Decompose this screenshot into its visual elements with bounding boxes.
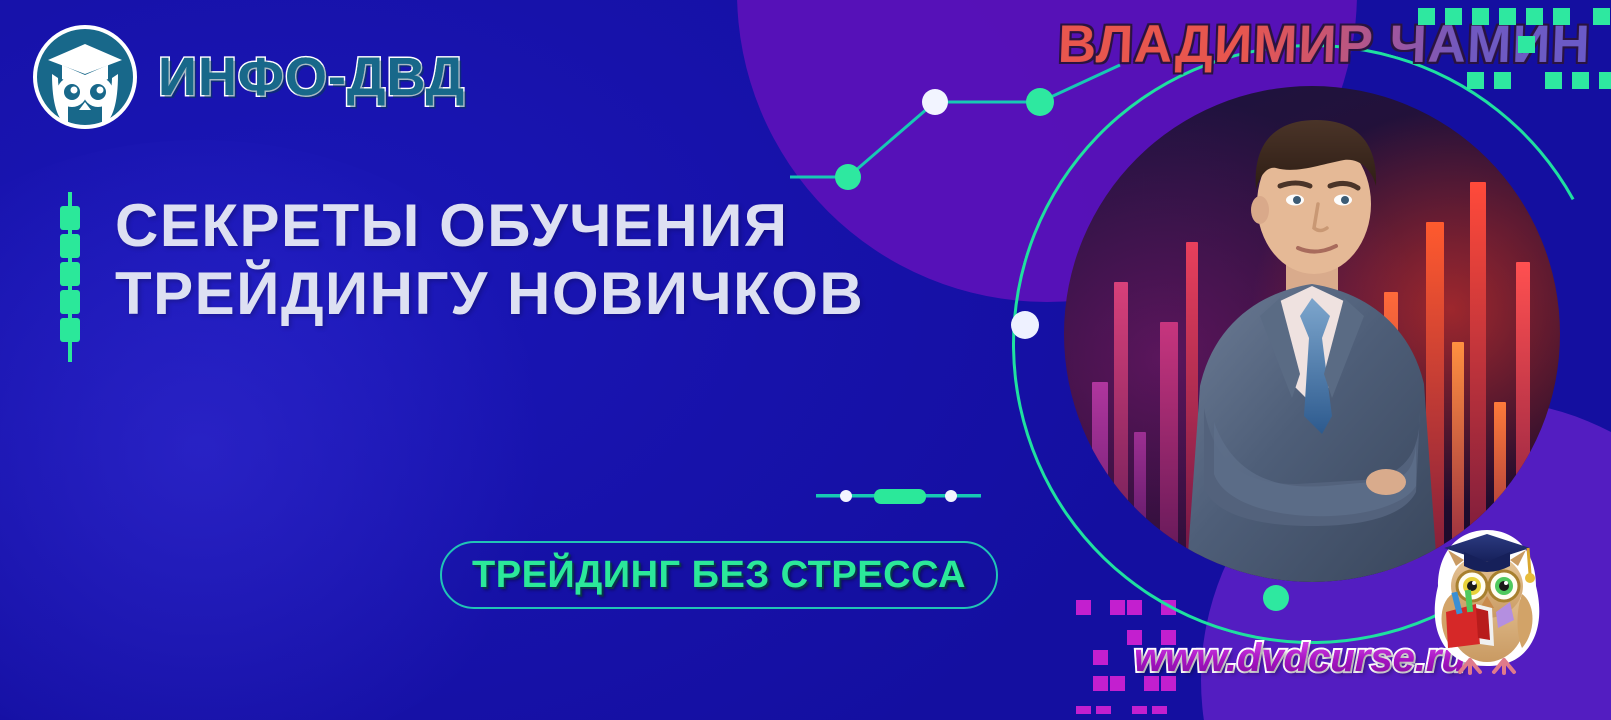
- owl-reading-book-icon: [1418, 516, 1556, 676]
- person-figure: [1064, 86, 1560, 582]
- headline-line-1: СЕКРЕТЫ ОБУЧЕНИЯ: [115, 192, 864, 260]
- candlestick-vertical-icon: [55, 192, 85, 362]
- tagline-badge[interactable]: ТРЕЙДИНГ БЕЗ СТРЕССА: [440, 541, 998, 609]
- pixel-grid-green-icon: [1418, 8, 1598, 32]
- brand-logo-text-fill: ИНФО-ДВД: [158, 46, 465, 108]
- owl-graduate-icon: [30, 22, 140, 132]
- site-url-fill: www.dvdcurse.ru: [1134, 636, 1466, 681]
- brand-logo-text: ИНФО-ДВД ИНФО-ДВД: [158, 46, 465, 108]
- page-title: СЕКРЕТЫ ОБУЧЕНИЯ ТРЕЙДИНГУ НОВИЧКОВ: [115, 192, 864, 328]
- ring-node-left-icon: [1000, 300, 1050, 350]
- candlestick-horizontal-icon: [816, 485, 981, 507]
- portrait-circle: [1064, 86, 1560, 582]
- headline-line-2: ТРЕЙДИНГУ НОВИЧКОВ: [115, 260, 864, 328]
- ring-node-bottom-icon: [1256, 578, 1296, 618]
- promo-banner: ИНФО-ДВД ИНФО-ДВД ВЛАДИМИР ЧАМИН: [0, 0, 1611, 720]
- site-url[interactable]: www.dvdcurse.ru www.dvdcurse.ru: [1134, 636, 1466, 681]
- pixel-grid-green-icon-2: [1518, 36, 1558, 60]
- brand-logo[interactable]: ИНФО-ДВД ИНФО-ДВД: [30, 22, 465, 132]
- speaker-portrait: [1064, 86, 1560, 582]
- pixel-grid-green-icon-3: [1467, 72, 1597, 96]
- tagline-label: ТРЕЙДИНГ БЕЗ СТРЕССА: [472, 554, 966, 597]
